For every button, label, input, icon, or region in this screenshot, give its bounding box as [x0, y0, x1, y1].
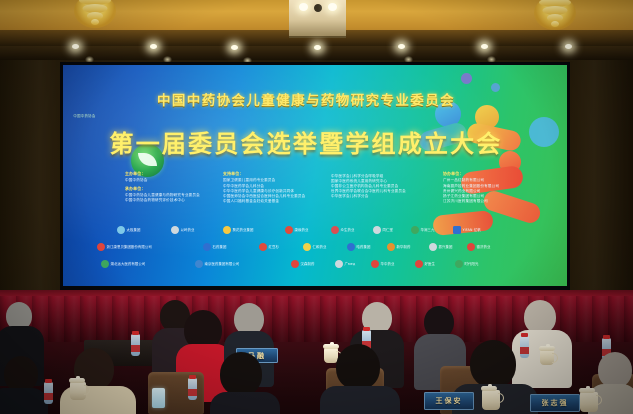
sponsor-logo: 汉森制药 — [291, 258, 314, 269]
decor-dot — [461, 73, 472, 84]
column-head: 支持单位： — [223, 172, 328, 177]
water-bottle — [44, 382, 53, 404]
decor-figure-head-cyan — [529, 117, 559, 147]
tea-cup — [540, 350, 554, 365]
wall-right — [568, 60, 633, 310]
headline-main-title: 第一届委员会选举暨学组成立大会 — [86, 124, 526, 159]
ceiling-light — [398, 44, 405, 49]
projector-lens-icon — [314, 4, 322, 12]
ceiling-light — [150, 44, 157, 49]
sponsor-logo: 康缘药业 — [285, 224, 308, 235]
water-bottle — [131, 334, 140, 356]
tea-cup — [580, 392, 598, 412]
ceiling-light — [314, 45, 321, 50]
water-bottle — [188, 378, 197, 400]
sponsor-logo: 同仁堂 — [373, 224, 393, 235]
column-co-sponsor: 协办单位： 广州一品红制药有限公司 海南葫芦娃药业集团股份有限公司 贵州健兴药业… — [443, 172, 553, 204]
sponsor-logo: 华润三九 — [411, 224, 434, 235]
sponsor-logo: 新华制药 — [387, 241, 410, 252]
sponsor-logo: YIFAN 亿帆 — [453, 224, 481, 235]
water-bottle — [520, 336, 529, 358]
chandelier-right — [534, 0, 576, 30]
sponsor-logo: 广мед — [335, 258, 355, 269]
tea-cup — [482, 390, 500, 410]
sponsor-logo: 振兴集团 — [429, 241, 452, 252]
sponsor-logo: 时代阳光 — [455, 258, 478, 269]
sponsor-logo: 南京医药集团有限公司 — [195, 258, 239, 269]
chandelier-left — [74, 0, 116, 28]
sponsor-logo: 众生药业 — [331, 224, 354, 235]
sponsor-logo: 葵花药业集团 — [223, 224, 253, 235]
sponsor-logo: 石药集团 — [203, 241, 226, 252]
sponsor-logo: 湖北远大医药有限公司 — [101, 258, 145, 269]
column-line: 中国人口福利基金会妇幼关爱基金 — [223, 199, 328, 204]
sponsor-logo: 红豆杉 — [259, 241, 279, 252]
sponsor-logo: 仁和药业 — [303, 241, 326, 252]
sponsor-logo: 好医生 — [415, 258, 435, 269]
column-organizer: 主办单位： 中国中药协会 承办单位： 中国中药协会儿童健康与药物研究专业委员会 … — [125, 172, 220, 203]
nameplate-text: 张志强 — [542, 398, 569, 408]
sponsor-logo: 太极集团 — [117, 224, 140, 235]
nameplate-zhang-zhiqiang: 张志强 — [530, 394, 580, 412]
sponsor-logo: 浙江康恩贝集团股份有限公司 — [97, 241, 152, 252]
sponsor-row-2: 浙江康恩贝集团股份有限公司 石药集团 红豆杉 仁和药业 哈药集团 新华制药 振兴… — [63, 241, 513, 255]
sponsor-row-1: 太极集团 以岭药业 葵花药业集团 康缘药业 众生药业 同仁堂 华润三九 YIFA… — [63, 224, 513, 238]
column-head: 协办单位： — [443, 172, 553, 177]
smartphone-screen[interactable] — [152, 388, 165, 408]
column-support-2: 中华医学会儿科学分会呼吸学组 国家中医药系统儿童用药研究中心 中国非公立医疗机构… — [331, 172, 439, 200]
column-line: 中华医学会儿科学分会 — [331, 194, 439, 199]
column-line: 江苏济川医药集团有限公司 — [443, 199, 553, 204]
sponsor-logo-wall: 太极集团 以岭药业 葵花药业集团 康缘药业 众生药业 同仁堂 华润三九 YIFA… — [63, 224, 513, 276]
emblem-left-caption: 中国中药协会 — [62, 113, 107, 118]
projector-lamp-left-icon — [299, 3, 308, 11]
headline-subtitle: 中国中药协会儿童健康与药物研究专业委员会 — [96, 89, 516, 109]
column-head: 主办单位： — [125, 172, 220, 177]
ceiling-light — [481, 44, 488, 49]
column-support-1: 支持单位： 国家卫健委儿童用药专业委员会 中华中医药学会儿科分会 中华中医药学会… — [223, 172, 328, 204]
ceiling-light — [565, 44, 572, 49]
nameplate-text: 王保安 — [436, 396, 463, 406]
tea-cup — [70, 382, 86, 400]
sponsor-logo: 以岭药业 — [171, 224, 194, 235]
column-head: 承办单位： — [125, 187, 220, 192]
column-line: 中国中药协会药物研究评价技术中心 — [125, 198, 220, 203]
sponsor-logo: 哈药集团 — [347, 241, 370, 252]
ceiling-light — [231, 45, 238, 50]
conference-hall-photo: 中国中药协会 中国中药协会儿童健康与药物研究专业委员会 第一届委员会选举暨学组成… — [0, 0, 633, 414]
sponsor-logo: 华中药业 — [371, 258, 394, 269]
wall-left — [0, 60, 66, 310]
nameplate-wang-baoan: 王保安 — [424, 392, 474, 410]
ceiling-light — [72, 44, 79, 49]
sponsor-row-3: 湖北远大医药有限公司 南京医药集团有限公司 汉森制药 广мед 华中药业 好医生… — [63, 258, 513, 272]
organizer-columns: 主办单位： 中国中药协会 承办单位： 中国中药协会儿童健康与药物研究专业委员会 … — [63, 172, 567, 220]
sponsor-logo: 德济药业 — [467, 241, 490, 252]
projector-lamp-right-icon — [328, 3, 337, 11]
